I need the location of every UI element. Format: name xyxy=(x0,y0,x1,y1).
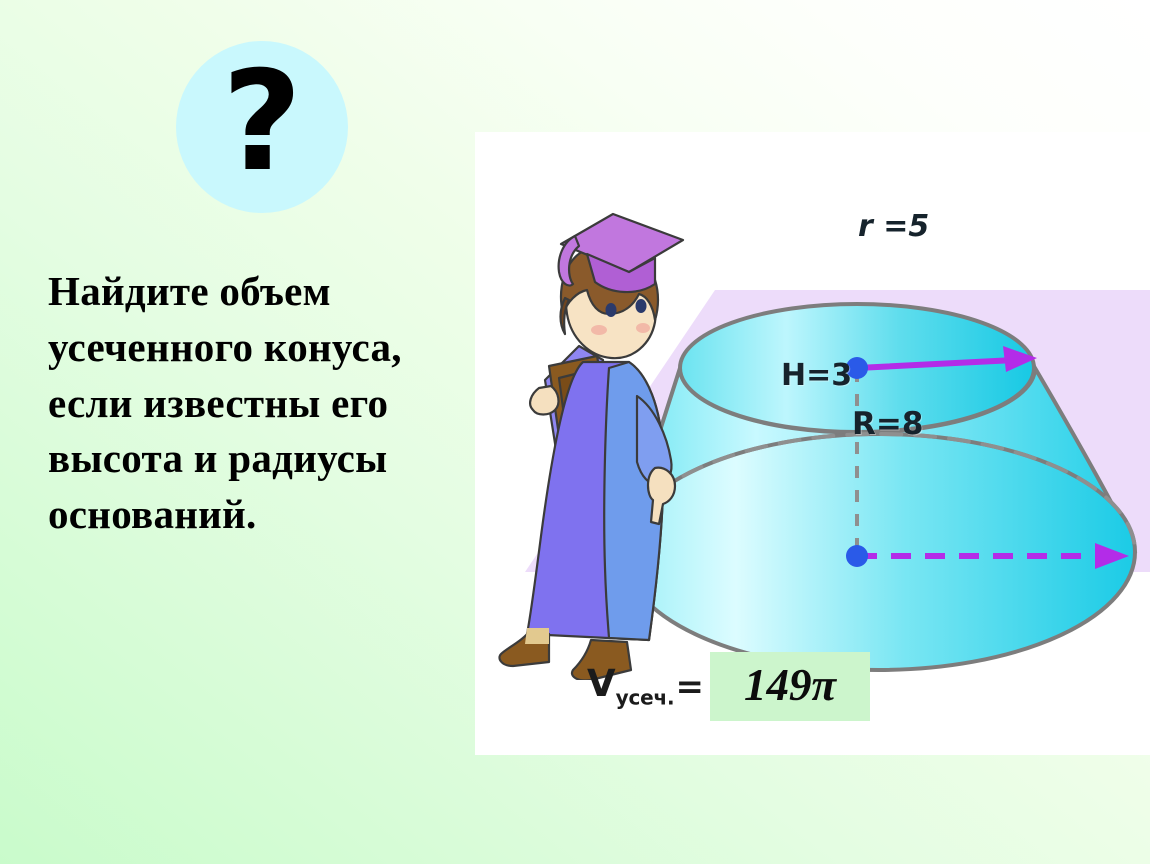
volume-symbol: Vусеч. xyxy=(587,665,674,707)
problem-statement: Найдите объем усеченного конуса, если из… xyxy=(48,264,468,543)
figure-panel: r =5 H=3 R=8 xyxy=(475,132,1150,755)
question-mark-icon: ? xyxy=(222,53,302,191)
label-bottom-radius: R=8 xyxy=(852,406,923,442)
graduate-student-clipart xyxy=(487,210,717,680)
label-top-radius: r =5 xyxy=(858,209,929,244)
equals-sign: = xyxy=(675,667,704,707)
volume-symbol-subscript: усеч. xyxy=(616,686,675,710)
question-mark-badge: ? xyxy=(176,41,348,213)
answer-row: Vусеч. = 149π xyxy=(587,652,870,721)
slide-canvas: ? Найдите объем усеченного конуса, если … xyxy=(0,0,1150,864)
answer-value: 149π xyxy=(710,652,870,721)
label-height: H=3 xyxy=(781,358,852,393)
volume-symbol-letter: V xyxy=(587,662,616,705)
